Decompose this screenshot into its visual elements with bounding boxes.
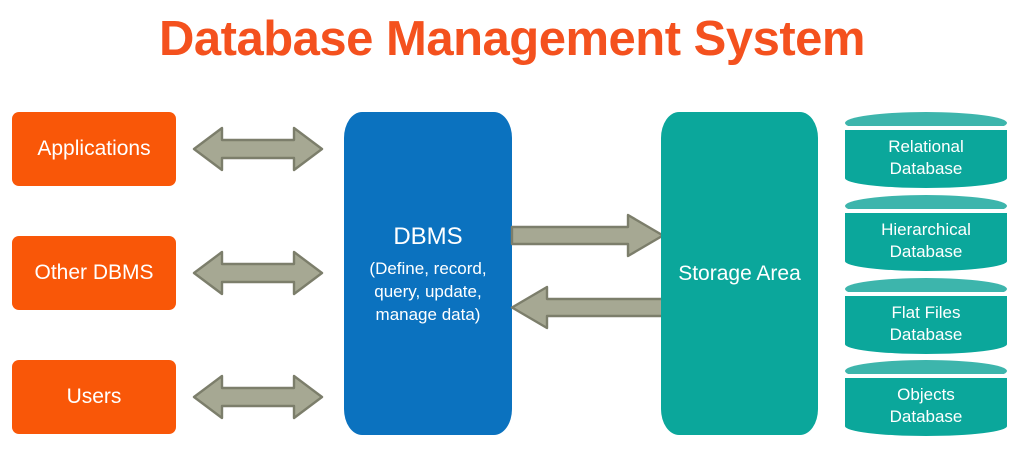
database-cylinder-objects[interactable]: Objects Database [845,360,1007,436]
cylinder-label-line2: Database [890,324,963,346]
cylinder-label-line1: Hierarchical [881,219,971,241]
cylinder-label-line2: Database [890,158,963,180]
database-cylinder-flat-files[interactable]: Flat Files Database [845,278,1007,354]
double-headed-arrow-icon [192,368,324,426]
cylinder-label: Objects Database [845,376,1007,436]
dbms-subtitle-line: manage data) [369,303,486,326]
cylinder-label-line1: Objects [897,384,955,406]
source-box-users[interactable]: Users [12,360,176,434]
cylinder-label-line1: Flat Files [892,302,961,324]
cylinder-label: Relational Database [845,128,1007,188]
double-headed-arrow-icon [192,244,324,302]
dbms-title: DBMS [393,221,462,253]
arrow-left-icon [510,285,665,330]
dbms-subtitle-line: query, update, [369,280,486,303]
arrow-right-icon [510,213,665,258]
dbms-box[interactable]: DBMS (Define, record, query, update, man… [344,112,512,435]
source-box-label: Users [67,385,122,409]
cylinder-label: Flat Files Database [845,294,1007,354]
dbms-subtitle: (Define, record, query, update, manage d… [363,257,492,326]
source-box-label: Other DBMS [34,261,153,285]
database-cylinder-hierarchical[interactable]: Hierarchical Database [845,195,1007,271]
dbms-subtitle-line: (Define, record, [369,257,486,280]
source-box-applications[interactable]: Applications [12,112,176,186]
cylinder-label-line2: Database [890,241,963,263]
source-box-label: Applications [37,137,150,161]
double-headed-arrow-icon [192,120,324,178]
storage-area-box[interactable]: Storage Area [661,112,818,435]
diagram-canvas: Database Management System Applications … [0,0,1024,463]
database-cylinder-relational[interactable]: Relational Database [845,112,1007,188]
cylinder-label-line2: Database [890,406,963,428]
source-box-other-dbms[interactable]: Other DBMS [12,236,176,310]
page-title: Database Management System [0,8,1024,70]
storage-area-label: Storage Area [678,262,801,286]
cylinder-label: Hierarchical Database [845,211,1007,271]
cylinder-label-line1: Relational [888,136,964,158]
